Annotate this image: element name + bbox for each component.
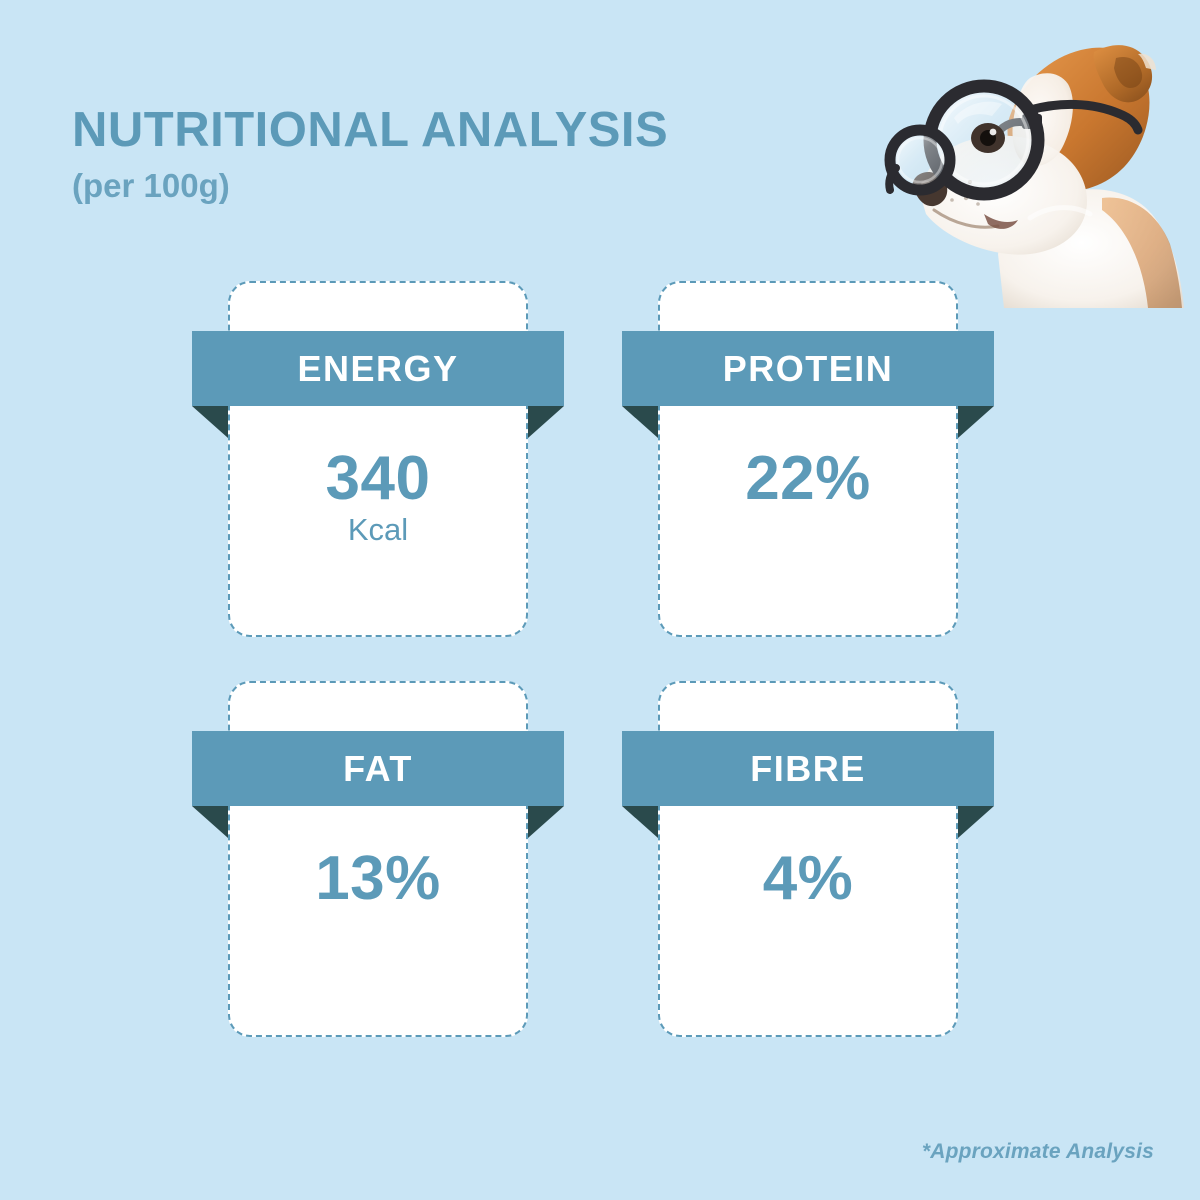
card-label: FIBRE (750, 751, 866, 787)
card-value: 22% (745, 446, 871, 511)
ribbon-fold-left (192, 806, 228, 838)
nutrition-card-energy: ENERGY 340 Kcal (192, 281, 564, 637)
ribbon-fold-left (622, 806, 658, 838)
card-value: 340 (326, 446, 431, 511)
approximate-analysis-footnote: *Approximate Analysis (922, 1140, 1154, 1164)
card-value: 4% (763, 846, 854, 911)
ribbon-fold-right (958, 806, 994, 838)
card-ribbon: FAT (192, 731, 564, 806)
ribbon-fold-right (528, 806, 564, 838)
ribbon-fold-right (958, 406, 994, 438)
nutrition-card-fibre: FIBRE 4% (622, 681, 994, 1037)
card-ribbon: FIBRE (622, 731, 994, 806)
card-ribbon: PROTEIN (622, 331, 994, 406)
ribbon-fold-left (192, 406, 228, 438)
nutrition-card-protein: PROTEIN 22% (622, 281, 994, 637)
card-label: PROTEIN (723, 351, 894, 387)
card-body: 22% (658, 406, 958, 637)
nutrition-card-grid: ENERGY 340 Kcal PROTEIN 22% FAT 13% (0, 0, 1200, 1200)
ribbon-fold-right (528, 406, 564, 438)
card-value: 13% (315, 846, 441, 911)
card-unit: Kcal (348, 513, 408, 547)
card-ribbon: ENERGY (192, 331, 564, 406)
ribbon-fold-left (622, 406, 658, 438)
card-body: 4% (658, 806, 958, 1037)
card-label: ENERGY (297, 351, 458, 387)
nutrition-card-fat: FAT 13% (192, 681, 564, 1037)
card-label: FAT (343, 751, 413, 787)
card-body: 340 Kcal (228, 406, 528, 637)
card-body: 13% (228, 806, 528, 1037)
